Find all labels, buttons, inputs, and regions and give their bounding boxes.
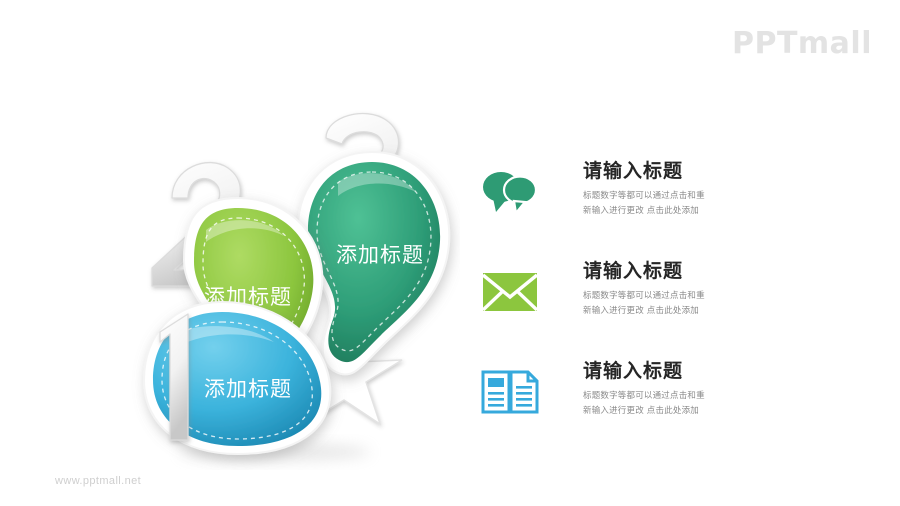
row-description: 标题数字等都可以通过点击和重 新输入进行更改 点击此处添加 — [583, 389, 873, 419]
row-desc-line-1: 标题数字等都可以通过点击和重 — [583, 289, 873, 304]
row-desc-line-1: 标题数字等都可以通过点击和重 — [583, 189, 873, 204]
teardrop-label-1: 添加标题 — [204, 377, 292, 401]
row-desc-line-2: 新输入进行更改 点击此处添加 — [583, 204, 873, 219]
slide-canvas: PPTmall — [0, 0, 900, 506]
row-title: 请输入标题 — [583, 260, 873, 284]
row-text-block: 请输入标题 标题数字等都可以通过点击和重 新输入进行更改 点击此处添加 — [583, 260, 873, 319]
content-row[interactable]: 请输入标题 标题数字等都可以通过点击和重 新输入进行更改 点击此处添加 — [478, 260, 878, 360]
footer-url: www.pptmall.net — [55, 475, 141, 487]
teardrop-infographic: 添加标题 添加标题 添加标题 — [130, 110, 460, 470]
row-title: 请输入标题 — [583, 360, 873, 384]
row-description: 标题数字等都可以通过点击和重 新输入进行更改 点击此处添加 — [583, 289, 873, 319]
row-text-block: 请输入标题 标题数字等都可以通过点击和重 新输入进行更改 点击此处添加 — [583, 160, 873, 219]
row-desc-line-1: 标题数字等都可以通过点击和重 — [583, 389, 873, 404]
speech-bubbles-icon[interactable] — [478, 164, 542, 220]
row-title: 请输入标题 — [583, 160, 873, 184]
open-book-icon[interactable] — [478, 364, 542, 420]
teardrop-label-3: 添加标题 — [336, 243, 424, 267]
envelope-icon[interactable] — [478, 264, 542, 320]
row-text-block: 请输入标题 标题数字等都可以通过点击和重 新输入进行更改 点击此处添加 — [583, 360, 873, 419]
content-row[interactable]: 请输入标题 标题数字等都可以通过点击和重 新输入进行更改 点击此处添加 — [478, 360, 878, 460]
row-desc-line-2: 新输入进行更改 点击此处添加 — [583, 404, 873, 419]
pptmall-watermark-logo: PPTmall — [732, 26, 872, 61]
content-rows-list: 请输入标题 标题数字等都可以通过点击和重 新输入进行更改 点击此处添加 请输入标… — [478, 160, 878, 460]
row-description: 标题数字等都可以通过点击和重 新输入进行更改 点击此处添加 — [583, 189, 873, 219]
content-row[interactable]: 请输入标题 标题数字等都可以通过点击和重 新输入进行更改 点击此处添加 — [478, 160, 878, 260]
row-desc-line-2: 新输入进行更改 点击此处添加 — [583, 304, 873, 319]
